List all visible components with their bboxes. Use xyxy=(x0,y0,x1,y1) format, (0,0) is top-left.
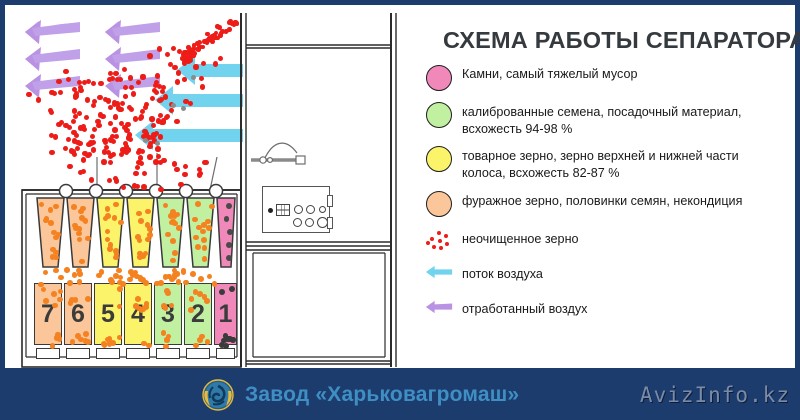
panel-button[interactable] xyxy=(319,206,326,213)
bin-7[interactable]: 7 xyxy=(34,283,62,345)
legend-item-exhaust-air: отработанный воздух xyxy=(416,298,795,324)
indicator-light xyxy=(268,208,273,213)
legend-marker xyxy=(416,298,462,314)
drawer-2[interactable] xyxy=(186,348,210,359)
bin-number: 2 xyxy=(191,302,205,327)
commercial-grain-swatch-icon xyxy=(426,146,452,172)
legend-marker xyxy=(416,100,462,128)
drawer-7[interactable] xyxy=(36,348,60,359)
legend-item-calibrated-seed: калиброванные семена, посадочный материа… xyxy=(416,100,795,137)
legend-item-fodder-grain: фуражное зерно, половинки семян, неконди… xyxy=(416,189,795,221)
footer-bar: Завод «Харьковагромаш» AvizInfo.kz xyxy=(0,370,800,420)
legend-marker xyxy=(416,228,462,252)
bin-number: 6 xyxy=(71,302,85,327)
panel-tab xyxy=(327,217,333,229)
legend-marker xyxy=(416,189,462,217)
bin-row: 7654321 xyxy=(5,5,405,368)
panel-button[interactable] xyxy=(294,205,303,214)
control-panel[interactable] xyxy=(262,186,330,233)
legend-panel: СХЕМА РАБОТЫ СЕПАРАТОРА Камни, самый тяж… xyxy=(408,5,795,368)
footer-brand-group: Завод «Харьковагромаш» xyxy=(200,370,519,420)
bin-1[interactable]: 1 xyxy=(214,283,237,345)
bin-4[interactable]: 4 xyxy=(124,283,152,345)
legend-marker xyxy=(416,263,462,279)
legend-list: Камни, самый тяжелый мусор калиброванные… xyxy=(416,63,795,333)
bin-number: 1 xyxy=(219,302,233,327)
panel-tab xyxy=(327,195,333,207)
panel-button[interactable] xyxy=(293,218,302,227)
zavod-logo-icon xyxy=(200,377,236,413)
bin-number: 4 xyxy=(131,302,145,327)
legend-item-label: неочищенное зерно xyxy=(462,228,579,248)
separator-diagram: 7654321 xyxy=(5,5,405,368)
uncleaned-grain-dots-icon xyxy=(425,230,453,252)
drawer-5[interactable] xyxy=(96,348,120,359)
calibrated-seed-swatch-icon xyxy=(426,102,452,128)
drawer-3[interactable] xyxy=(156,348,180,359)
bin-number: 7 xyxy=(41,302,55,327)
bin-2[interactable]: 2 xyxy=(184,283,212,345)
stones-swatch-icon xyxy=(426,65,452,91)
company-name: Завод «Харьковагромаш» xyxy=(245,383,519,407)
bin-3[interactable]: 3 xyxy=(154,283,182,345)
watermark-text: AvizInfo.kz xyxy=(640,383,790,407)
legend-marker xyxy=(416,63,462,91)
drawer-4[interactable] xyxy=(126,348,150,359)
bin-6[interactable]: 6 xyxy=(64,283,92,345)
bin-5[interactable]: 5 xyxy=(94,283,122,345)
legend-item-label: Камни, самый тяжелый мусор xyxy=(462,63,637,83)
legend-item-label: отработанный воздух xyxy=(462,298,587,318)
bin-number: 3 xyxy=(161,302,175,327)
legend-item-air-flow: поток воздуха xyxy=(416,263,795,289)
exhaust-air-arrow-icon xyxy=(424,300,454,314)
screenshot-root: 7654321 СХЕМА РАБОТЫ СЕПАРАТОРА Камни, с… xyxy=(0,0,800,420)
legend-item-uncleaned-grain: неочищенное зерно xyxy=(416,228,795,254)
legend-item-label: товарное зерно, зерно верхней и нижней ч… xyxy=(462,144,782,181)
panel-button[interactable] xyxy=(306,205,315,214)
legend-item-stones: Камни, самый тяжелый мусор xyxy=(416,63,795,91)
panel-button[interactable] xyxy=(305,218,314,227)
legend-item-commercial-grain: товарное зерно, зерно верхней и нижней ч… xyxy=(416,144,795,181)
legend-item-label: поток воздуха xyxy=(462,263,543,283)
drawer-6[interactable] xyxy=(66,348,90,359)
page-title: СХЕМА РАБОТЫ СЕПАРАТОРА xyxy=(443,27,800,54)
legend-item-label: фуражное зерно, половинки семян, неконди… xyxy=(462,189,742,210)
fodder-grain-swatch-icon xyxy=(426,191,452,217)
bin-number: 5 xyxy=(101,302,115,327)
drawer-1[interactable] xyxy=(216,348,235,359)
legend-marker xyxy=(416,144,462,172)
air-flow-arrow-icon xyxy=(424,265,454,279)
legend-item-label: калиброванные семена, посадочный материа… xyxy=(462,100,782,137)
display-grid-icon xyxy=(276,204,290,216)
